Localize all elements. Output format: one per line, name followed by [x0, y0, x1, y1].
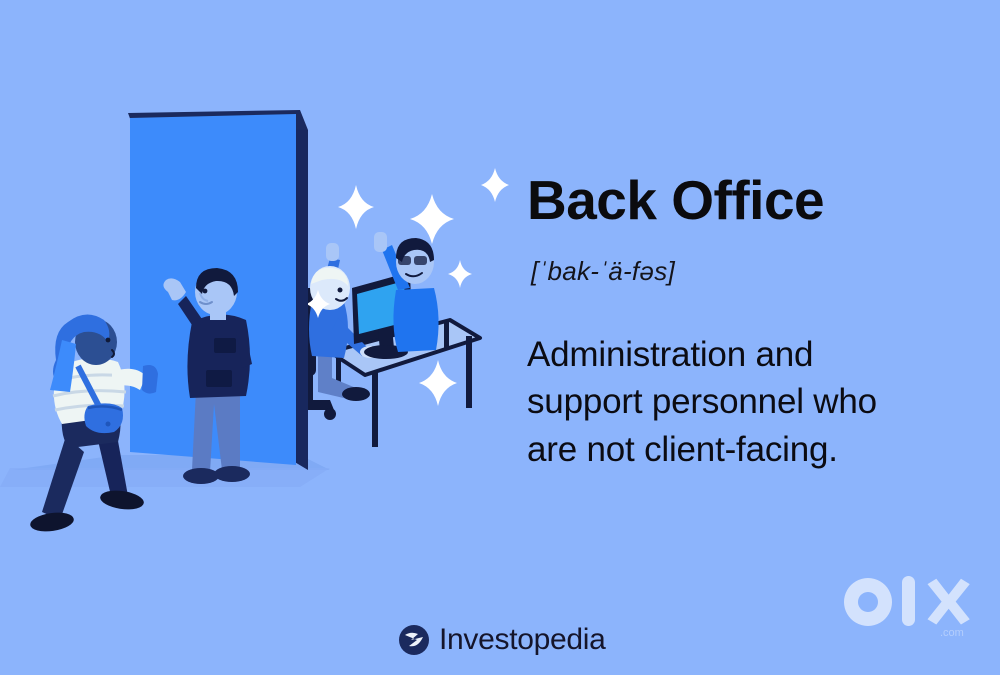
sparkle-icon	[448, 260, 472, 288]
olx-letter-o	[844, 578, 892, 626]
infographic-canvas: Back Office [ˈbak-ˈä-fəs] Administration…	[0, 0, 1000, 675]
brand-name: Investopedia	[439, 625, 606, 655]
desk-leg-front-right	[466, 336, 472, 408]
olx-letter-x	[928, 579, 970, 625]
sparkle-icon	[419, 360, 457, 406]
back-office-illustration	[0, 0, 520, 600]
olx-watermark: .com	[840, 570, 980, 640]
olx-letter-l	[902, 576, 915, 626]
desk-leg-back-right	[444, 320, 449, 350]
investopedia-swoosh-icon	[398, 624, 430, 656]
desk-leg-front-left	[372, 372, 378, 447]
floor-shadow-left	[0, 468, 330, 487]
pronunciation: [ˈbak-ˈä-fəs]	[531, 256, 957, 287]
olx-watermark-sub: .com	[940, 627, 964, 639]
brand-logo: Investopedia	[398, 624, 606, 656]
sparkle-icon	[338, 185, 374, 229]
definition-text: Administration and support personnel who…	[527, 331, 927, 474]
sparkle-icon	[481, 168, 509, 202]
page-title: Back Office	[527, 172, 957, 230]
definition-text-block: Back Office [ˈbak-ˈä-fəs] Administration…	[527, 172, 957, 474]
sparkle-icon	[410, 194, 454, 244]
office-scene	[286, 168, 509, 447]
